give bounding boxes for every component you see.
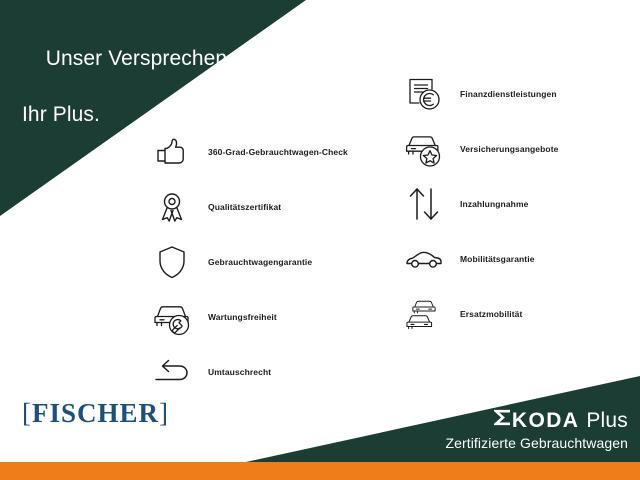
feature-item: Gebrauchtwagengarantie: [148, 236, 388, 288]
thumbs-up-icon: [148, 128, 196, 176]
feature-label: Versicherungsangebote: [460, 144, 558, 154]
car-star-icon: [400, 125, 448, 173]
shield-icon: [148, 238, 196, 286]
feature-item: Mobilitätsgarantie: [400, 233, 640, 285]
two-cars-icon: [400, 290, 448, 338]
headline-line-2: Ihr Plus.: [22, 101, 233, 129]
feature-label: Finanzdienstleistungen: [460, 89, 557, 99]
skoda-logo-line: KODA Plus: [445, 406, 628, 433]
headline-line-1: Unser Versprechen.: [46, 47, 233, 70]
feature-item: Ersatzmobilität: [400, 288, 640, 340]
return-arrow-icon: [148, 348, 196, 396]
dealer-logo-bracket-close: ]: [159, 398, 169, 428]
feature-label: Wartungsfreiheit: [208, 312, 277, 322]
feature-label: Mobilitätsgarantie: [460, 254, 535, 264]
feature-label: Inzahlungnahme: [460, 199, 528, 209]
skoda-plus-text: Plus: [586, 409, 628, 433]
feature-label: Gebrauchtwagengarantie: [208, 257, 312, 267]
sports-car-icon: [400, 235, 448, 283]
promo-banner: Unser Versprechen. Ihr Plus. 360-Grad-Ge…: [0, 0, 640, 480]
skoda-subtitle: Zertifizierte Gebrauchtwagen: [445, 434, 628, 452]
document-euro-icon: [400, 70, 448, 118]
dealer-logo-bracket-open: [: [22, 398, 32, 428]
up-down-arrows-icon: [400, 180, 448, 228]
feature-item: Wartungsfreiheit: [148, 291, 388, 343]
feature-label: 360-Grad-Gebrauchtwagen-Check: [208, 147, 348, 157]
dealer-logo: [FISCHER]: [22, 398, 169, 429]
feature-item: 360-Grad-Gebrauchtwagen-Check: [148, 126, 388, 178]
feature-item: Versicherungsangebote: [400, 123, 640, 175]
car-wrench-icon: [148, 293, 196, 341]
feature-label: Qualitätszertifikat: [208, 202, 281, 212]
feature-item: Finanzdienstleistungen: [400, 68, 640, 120]
skoda-plus-logo: KODA Plus Zertifizierte Gebrauchtwagen: [445, 406, 628, 452]
feature-label: Umtauschrecht: [208, 367, 271, 377]
skoda-s-caron-mark: [494, 407, 511, 434]
feature-item: Qualitätszertifikat: [148, 181, 388, 233]
skoda-brand-text: KODA: [512, 409, 579, 433]
feature-label: Ersatzmobilität: [460, 309, 522, 319]
feature-list-right: Finanzdienstleistungen Versicherungsange…: [400, 68, 640, 343]
orange-bar: [0, 462, 640, 480]
feature-item: Umtauschrecht: [148, 346, 388, 398]
feature-item: Inzahlungnahme: [400, 178, 640, 230]
dealer-logo-name: FISCHER: [32, 398, 159, 428]
feature-list-left: 360-Grad-Gebrauchtwagen-Check Qualitätsz…: [148, 126, 388, 401]
award-rosette-icon: [148, 183, 196, 231]
